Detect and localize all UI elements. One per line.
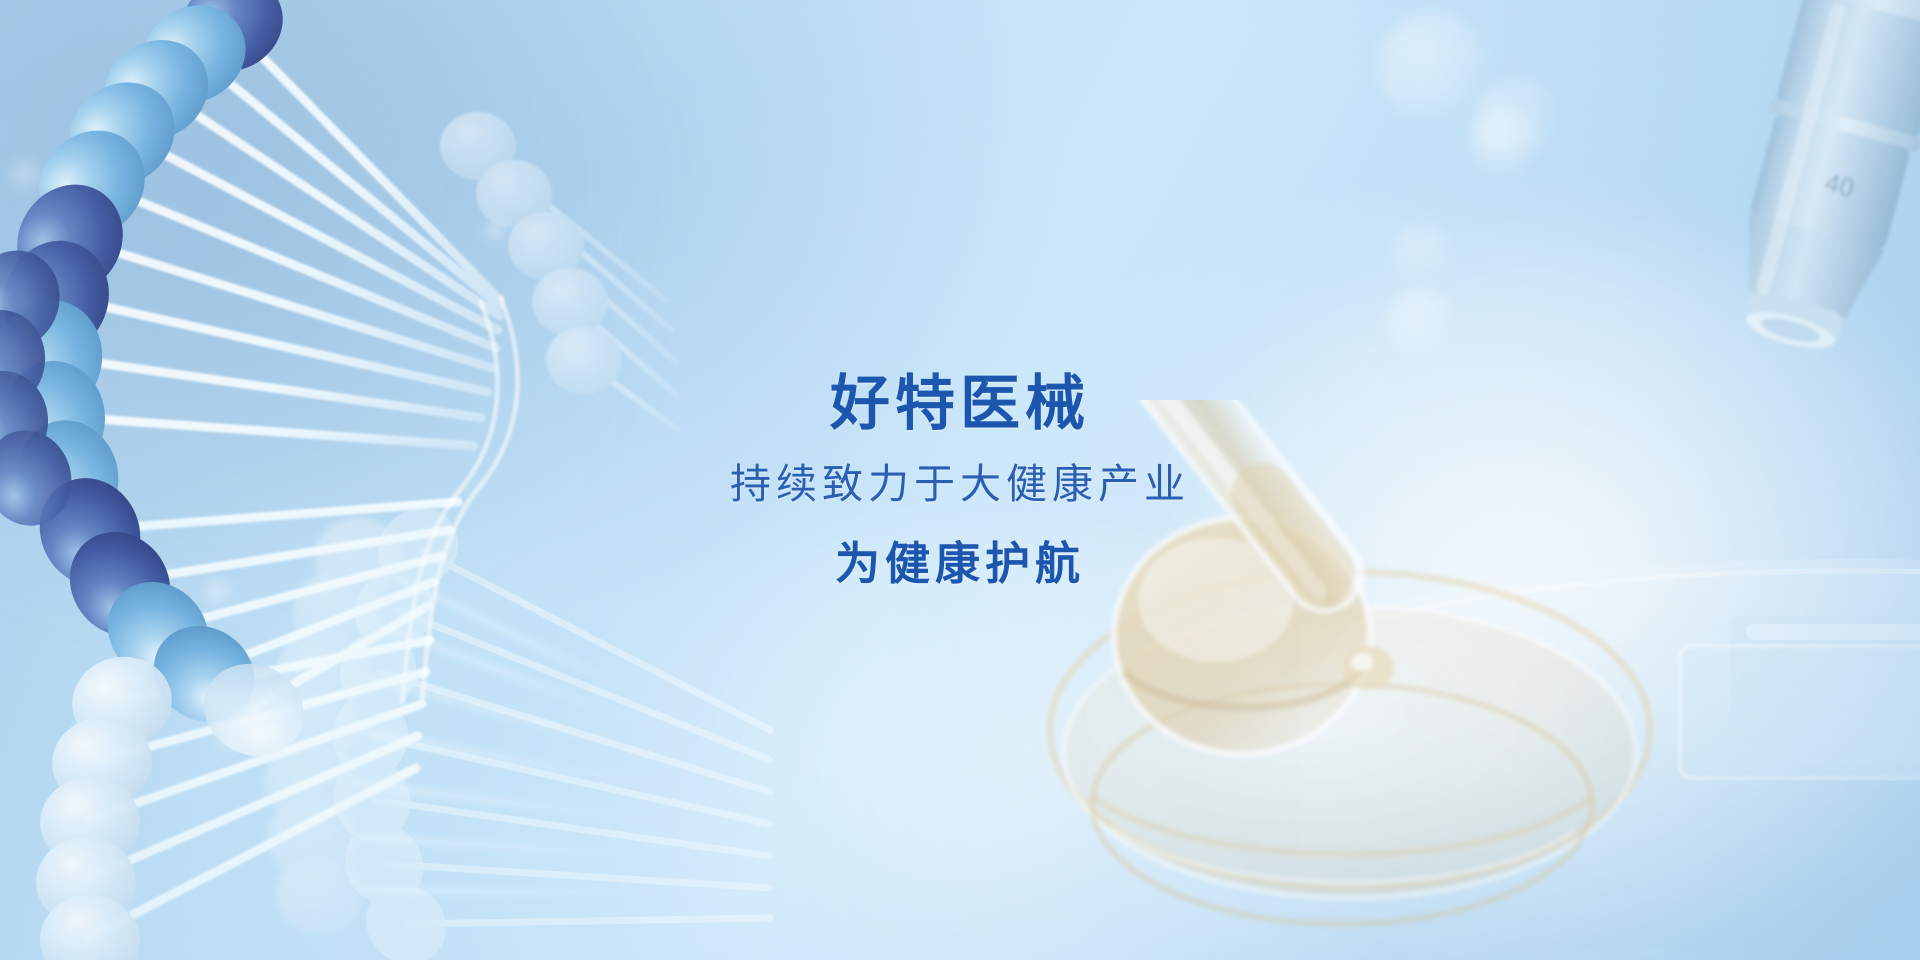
background-wash-right	[1180, 240, 1920, 960]
dna-helix-graphic	[0, 0, 740, 960]
bokeh-circle	[1378, 12, 1488, 122]
microscope-objective-graphic: 40	[1690, 0, 1920, 386]
bokeh-circle	[486, 222, 506, 242]
tagline-secondary: 为健康护航	[835, 541, 1085, 586]
dna-beads-accent	[0, 238, 83, 536]
dna-strand-background	[264, 518, 650, 934]
objective-magnification-label: 40	[1822, 167, 1858, 203]
background-wash-left	[0, 0, 640, 600]
glass-slide-graphic	[1660, 610, 1920, 830]
tagline-primary: 持续致力于大健康产业	[730, 464, 1190, 505]
brand-title: 好特医械	[830, 374, 1090, 434]
dna-beads-lower	[36, 648, 180, 960]
dna-strand-pale	[440, 112, 678, 430]
bokeh-circle	[1472, 78, 1558, 164]
bokeh-circle	[216, 730, 240, 754]
hero-copy: 好特医械 持续致力于大健康产业 为健康护航	[0, 0, 1920, 960]
dna-stems	[50, 22, 500, 938]
dna-beads-upper	[0, 0, 320, 773]
bokeh-circle	[1470, 108, 1540, 178]
hero-banner: 40	[0, 0, 1920, 960]
bokeh-circle	[10, 160, 44, 194]
bokeh-circle	[1386, 288, 1456, 358]
microscope-stage-graphic	[1300, 520, 1920, 950]
dna-helix-secondary	[300, 460, 860, 960]
dna-backbone	[402, 296, 518, 704]
bokeh-circle	[206, 580, 232, 606]
bokeh-circle	[1392, 222, 1454, 284]
